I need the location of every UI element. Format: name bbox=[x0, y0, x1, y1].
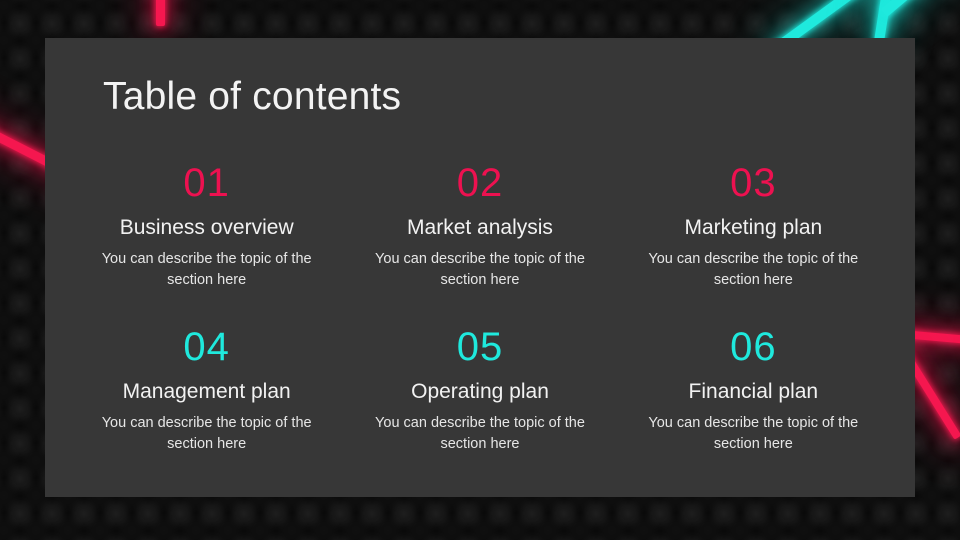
toc-item-01[interactable]: 01 Business overview You can describe th… bbox=[75, 163, 338, 291]
toc-heading-04: Management plan bbox=[123, 380, 291, 404]
toc-heading-01: Business overview bbox=[120, 216, 294, 240]
toc-heading-02: Market analysis bbox=[407, 216, 553, 240]
toc-number-05: 05 bbox=[457, 327, 504, 367]
slide-canvas: Table of contents 01 Business overview Y… bbox=[0, 0, 960, 540]
content-card: Table of contents 01 Business overview Y… bbox=[45, 38, 915, 497]
toc-heading-03: Marketing plan bbox=[684, 216, 822, 240]
toc-number-03: 03 bbox=[730, 163, 777, 203]
neon-pink-vertical-bar-icon bbox=[156, 0, 165, 26]
toc-item-02[interactable]: 02 Market analysis You can describe the … bbox=[348, 163, 611, 291]
toc-number-06: 06 bbox=[730, 327, 777, 367]
toc-description-04: You can describe the topic of the sectio… bbox=[91, 413, 323, 455]
page-title: Table of contents bbox=[103, 76, 885, 119]
toc-description-01: You can describe the topic of the sectio… bbox=[91, 249, 323, 291]
toc-description-02: You can describe the topic of the sectio… bbox=[364, 249, 596, 291]
toc-number-04: 04 bbox=[183, 327, 230, 367]
toc-description-03: You can describe the topic of the sectio… bbox=[637, 249, 869, 291]
toc-number-01: 01 bbox=[183, 163, 230, 203]
toc-number-02: 02 bbox=[457, 163, 504, 203]
toc-item-04[interactable]: 04 Management plan You can describe the … bbox=[75, 327, 338, 455]
toc-heading-06: Financial plan bbox=[689, 380, 819, 404]
toc-item-06[interactable]: 06 Financial plan You can describe the t… bbox=[622, 327, 885, 455]
toc-description-05: You can describe the topic of the sectio… bbox=[364, 413, 596, 455]
toc-description-06: You can describe the topic of the sectio… bbox=[637, 413, 869, 455]
toc-item-03[interactable]: 03 Marketing plan You can describe the t… bbox=[622, 163, 885, 291]
toc-item-05[interactable]: 05 Operating plan You can describe the t… bbox=[348, 327, 611, 455]
table-of-contents-grid: 01 Business overview You can describe th… bbox=[75, 163, 885, 455]
toc-heading-05: Operating plan bbox=[411, 380, 549, 404]
